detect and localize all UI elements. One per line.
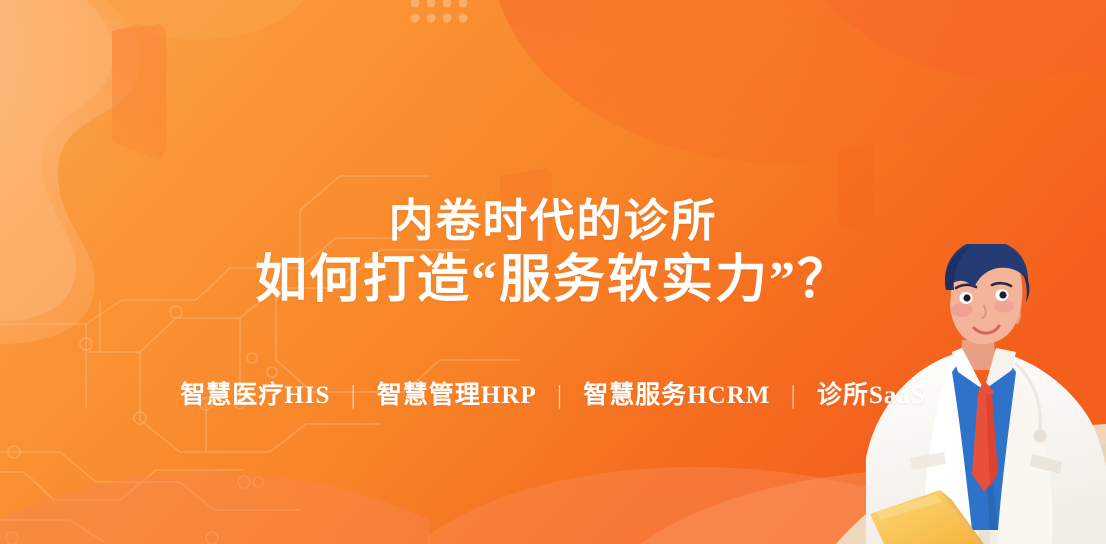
doctor-head: [945, 244, 1030, 344]
isometric-tower-right: [500, 168, 552, 258]
isometric-tower-left: [112, 24, 166, 160]
doctor-illustration: [866, 244, 1106, 544]
isometric-tower-far-right: [838, 144, 874, 236]
cheek-blush-right: [994, 300, 1014, 313]
promo-banner: 内卷时代的诊所 如何打造“服务软实力”？ 智慧医疗HIS | 智慧管理HRP |…: [0, 0, 1106, 544]
cheek-blush-left: [951, 303, 973, 317]
